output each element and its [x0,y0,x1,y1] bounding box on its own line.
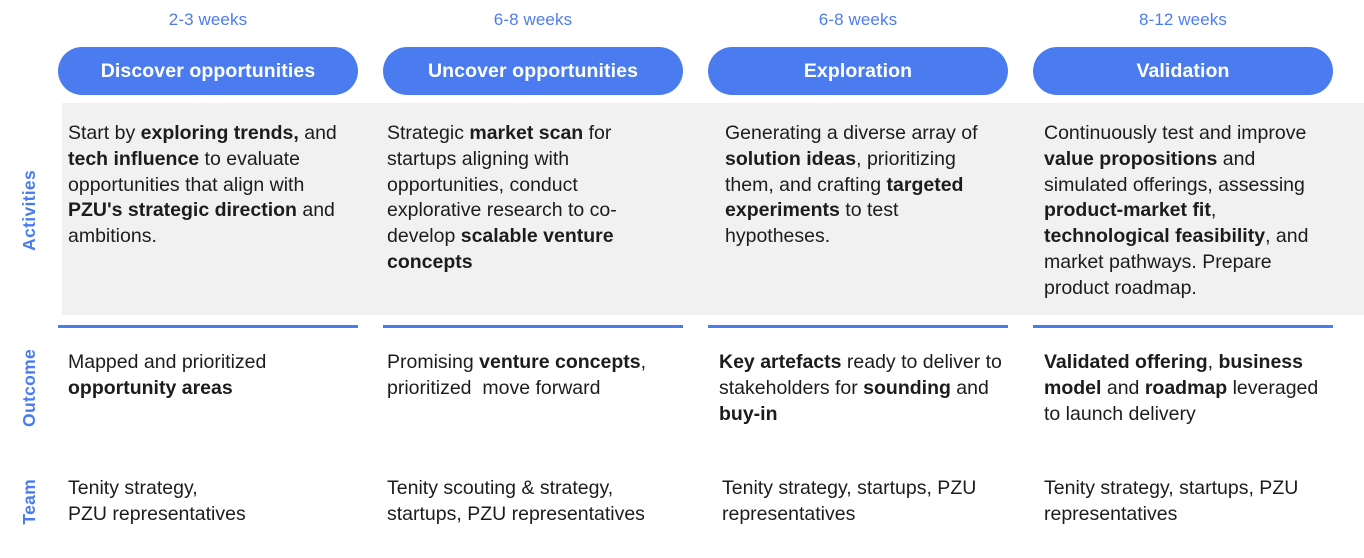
phase-pill-uncover-opportunities[interactable]: Uncover opportunities [383,47,683,95]
outcome-cell-uncover: Promising venture concepts, prioritized … [387,350,675,402]
duration-label-exploration: 6-8 weeks [708,10,1008,30]
duration-label-discover: 2-3 weeks [58,10,358,30]
duration-label-uncover: 6-8 weeks [383,10,683,30]
roadmap-diagram: 2-3 weeks 6-8 weeks 6-8 weeks 8-12 weeks… [0,0,1364,558]
activities-row: Start by exploring trends, and tech infl… [0,103,1364,315]
team-cell-uncover: Tenity scouting & strategy, startups, PZ… [387,476,657,528]
outcome-divider-exploration [708,325,1008,328]
outcome-divider-discover [58,325,358,328]
phase-pill-discover-opportunities[interactable]: Discover opportunities [58,47,358,95]
outcome-cell-validation: Validated offering, business model and r… [1044,350,1332,427]
outcome-cell-exploration: Key artefacts ready to deliver to stakeh… [719,350,1007,427]
outcome-cell-discover: Mapped and prioritized opportunity areas [68,350,348,402]
outcome-divider-uncover [383,325,683,328]
team-cell-validation: Tenity strategy, startups, PZU represent… [1044,476,1326,528]
activities-cell-discover: Start by exploring trends, and tech infl… [68,121,345,250]
phase-pill-validation[interactable]: Validation [1033,47,1333,95]
activities-cell-exploration: Generating a diverse array of solution i… [725,121,1002,250]
team-cell-discover: Tenity strategy,PZU representatives [68,476,358,528]
activities-cell-uncover: Strategic market scan for startups align… [387,121,664,276]
activities-cell-validation: Continuously test and improve value prop… [1044,121,1329,302]
outcome-row: Mapped and prioritized opportunity areas… [0,320,1364,450]
team-cell-exploration: Tenity strategy, startups, PZU represent… [722,476,1004,528]
team-row: Tenity strategy,PZU representatives Teni… [0,460,1364,558]
phase-pill-exploration[interactable]: Exploration [708,47,1008,95]
phase-header-row: 2-3 weeks 6-8 weeks 6-8 weeks 8-12 weeks… [0,0,1364,103]
duration-label-validation: 8-12 weeks [1033,10,1333,30]
outcome-divider-validation [1033,325,1333,328]
